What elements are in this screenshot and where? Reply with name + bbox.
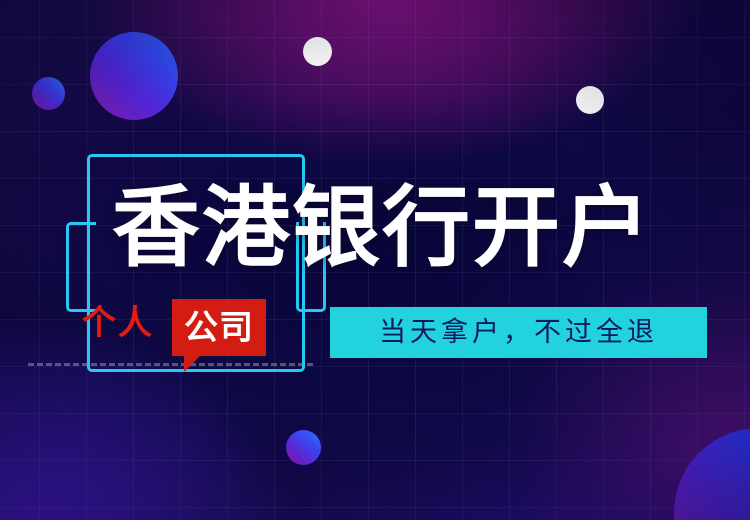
white-dot-right-icon: [576, 86, 604, 114]
promo-poster: 香港银行开户 个人 公司 当天拿户，不过全退: [0, 0, 750, 520]
sphere-large-decoration: [90, 32, 178, 120]
tag-company-bubble-tail: [184, 355, 201, 372]
promise-banner-text: 当天拿户，不过全退: [379, 317, 658, 348]
sphere-small-decoration: [32, 77, 65, 110]
sphere-mid-decoration: [286, 430, 321, 465]
tag-company-label: 公司: [184, 309, 254, 347]
tag-personal-label: 个人: [82, 303, 154, 343]
promise-banner: 当天拿户，不过全退: [330, 307, 707, 358]
tag-company-bubble: 公司: [172, 299, 266, 356]
page-title: 香港银行开户: [112, 178, 672, 278]
white-dot-upper-icon: [303, 37, 332, 66]
dashed-divider-line: [28, 363, 313, 366]
